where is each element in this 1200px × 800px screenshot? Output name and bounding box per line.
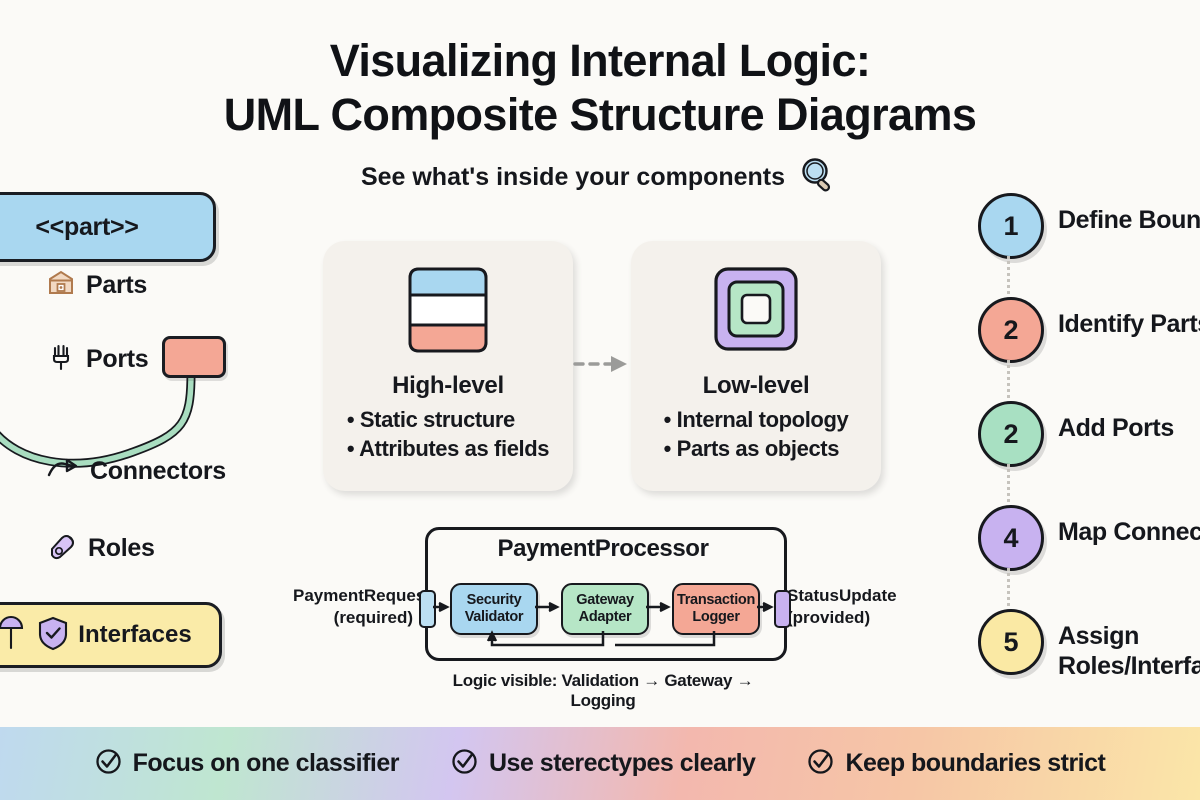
check-circle-icon bbox=[451, 748, 478, 780]
legend-port-box-right bbox=[162, 336, 226, 378]
step-label: Define Bounda bbox=[1058, 193, 1200, 235]
infographic-canvas: Visualizing Internal Logic: UML Composit… bbox=[0, 0, 1200, 800]
step-connector-dash bbox=[1007, 256, 1010, 294]
step-label: Map Connecto bbox=[1058, 505, 1200, 547]
legend-item-label: Connectors bbox=[90, 457, 226, 486]
step-item[interactable]: 4 Map Connecto bbox=[978, 505, 1200, 609]
payment-processor-footer-note: Logic visible: Validation → Gateway → Lo… bbox=[425, 671, 781, 711]
step-number-badge: 4 bbox=[978, 505, 1044, 571]
dashed-right-arrow-icon bbox=[573, 352, 631, 381]
step-label: Identify Parts bbox=[1058, 297, 1200, 339]
comparison-card-bullets: • Static structure • Attributes as field… bbox=[347, 405, 549, 463]
comparison-bullet: • Static structure bbox=[347, 405, 549, 434]
comparison-card-bullets: • Internal topology • Parts as objects bbox=[664, 405, 849, 463]
footer-tip-label: Focus on one classifier bbox=[133, 749, 399, 778]
shield-check-icon bbox=[37, 615, 69, 656]
step-number: 1 bbox=[1003, 211, 1018, 242]
comparison-card-title: High-level bbox=[392, 372, 504, 400]
legend-item-label: Ports bbox=[86, 345, 148, 374]
connector-arrow-icon bbox=[46, 456, 80, 487]
check-circle-icon bbox=[807, 748, 834, 780]
step-number-badge: 2 bbox=[978, 401, 1044, 467]
legend-part-chip-label: <<part>> bbox=[35, 213, 138, 242]
footer-tip-label: Keep boundaries strict bbox=[845, 749, 1105, 778]
legend-item-ports[interactable]: Ports bbox=[46, 342, 148, 377]
legend-item-parts[interactable]: Parts bbox=[46, 268, 147, 303]
step-label: Assign Roles/Interfac bbox=[1058, 609, 1200, 681]
step-number-badge: 1 bbox=[978, 193, 1044, 259]
step-item[interactable]: 5 Assign Roles/Interfac bbox=[978, 609, 1200, 713]
comparison-card-high-level[interactable]: High-level • Static structure • Attribut… bbox=[323, 241, 573, 491]
comparison-card-title: Low-level bbox=[703, 372, 810, 400]
header: Visualizing Internal Logic: UML Composit… bbox=[0, 34, 1200, 201]
port-pins-icon bbox=[46, 342, 76, 377]
page-title-line-2: UML Composite Structure Diagrams bbox=[0, 88, 1200, 142]
legend-item-connectors[interactable]: Connectors bbox=[46, 456, 226, 487]
magnifying-glass-icon bbox=[797, 154, 839, 201]
page-title-line-1: Visualizing Internal Logic: bbox=[0, 34, 1200, 88]
step-connector-dash bbox=[1007, 568, 1010, 606]
step-number: 2 bbox=[1003, 315, 1018, 346]
comparison-card-low-level[interactable]: Low-level • Internal topology • Parts as… bbox=[631, 241, 881, 491]
payment-processor-diagram: PaymentProcessor PaymentRequest (require… bbox=[293, 527, 903, 702]
legend-interfaces-chip[interactable]: Interfaces bbox=[0, 602, 222, 668]
step-number-badge: 5 bbox=[978, 609, 1044, 675]
step-item[interactable]: 1 Define Bounda bbox=[978, 193, 1200, 297]
check-circle-icon bbox=[95, 748, 122, 780]
legend-item-roles[interactable]: Roles bbox=[46, 531, 155, 566]
nested-boxes-icon bbox=[709, 263, 803, 362]
footer-tip[interactable]: Keep boundaries strict bbox=[807, 748, 1105, 780]
comparison-bullet: • Internal topology bbox=[664, 405, 849, 434]
legend-item-label: Roles bbox=[88, 534, 155, 563]
legend-interfaces-label: Interfaces bbox=[78, 621, 191, 649]
footer-tip[interactable]: Use sterectypes clearly bbox=[451, 748, 755, 780]
legend-panel: <<part>> Parts bbox=[0, 192, 220, 262]
step-connector-dash bbox=[1007, 464, 1010, 502]
legend-item-label: Parts bbox=[86, 271, 147, 300]
classifier-box-icon bbox=[401, 263, 495, 362]
step-number: 5 bbox=[1003, 627, 1018, 658]
step-label: Add Ports bbox=[1058, 401, 1174, 443]
legend-part-chip[interactable]: <<part>> bbox=[0, 192, 216, 262]
comparison-bullet: • Attributes as fields bbox=[347, 434, 549, 463]
step-connector-dash bbox=[1007, 360, 1010, 398]
comparison-bullet: • Parts as objects bbox=[664, 434, 849, 463]
step-number-badge: 2 bbox=[978, 297, 1044, 363]
step-number: 4 bbox=[1003, 523, 1018, 554]
page-subtitle: See what's inside your components bbox=[361, 163, 785, 192]
footer-tip[interactable]: Focus on one classifier bbox=[95, 748, 399, 780]
lollipop-socket-icon bbox=[0, 614, 28, 657]
steps-list: 1 Define Bounda 2 Identify Parts 2 Add P… bbox=[978, 193, 1200, 713]
role-tag-icon bbox=[46, 531, 78, 566]
footer-tip-label: Use sterectypes clearly bbox=[489, 749, 755, 778]
package-box-icon bbox=[46, 268, 76, 303]
step-item[interactable]: 2 Identify Parts bbox=[978, 297, 1200, 401]
step-number: 2 bbox=[1003, 419, 1018, 450]
footer-tips-bar: Focus on one classifier Use sterectypes … bbox=[0, 727, 1200, 800]
step-item[interactable]: 2 Add Ports bbox=[978, 401, 1200, 505]
